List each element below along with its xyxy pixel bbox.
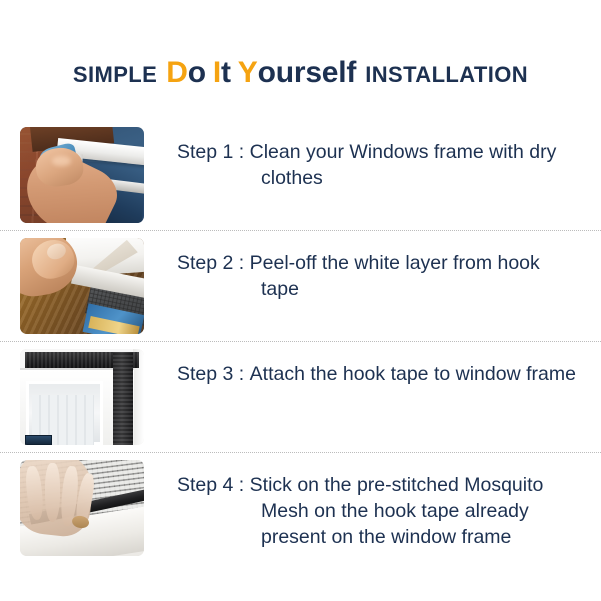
step-description: Step 2 : Peel-off the white layer from h…: [177, 238, 601, 303]
step-description: Step 4 : Stick on the pre-stitched Mosqu…: [177, 460, 601, 551]
title-brand-t: t: [221, 58, 231, 88]
title-prefix: SIMPLE: [73, 64, 157, 86]
title-brand-i: I: [213, 58, 221, 88]
step-label: Step 4 :: [177, 474, 250, 496]
step-label: Step 3 :: [177, 363, 250, 385]
title-brand-y: Y: [238, 58, 258, 88]
step-row: Step 4 : Stick on the pre-stitched Mosqu…: [0, 453, 601, 563]
title-line: SIMPLE D o I t Y ourself INSTALLATION: [73, 58, 528, 88]
step-label: Step 2 :: [177, 252, 250, 274]
step-description: Step 3 : Attach the hook tape to window …: [177, 349, 601, 388]
step-description: Step 1 : Clean your Windows frame with d…: [177, 127, 601, 192]
step-body: Clean your Windows frame with dry clothe…: [250, 141, 557, 189]
step-body: Peel-off the white layer from hook tape: [250, 252, 540, 300]
diy-installation-infographic: SIMPLE D o I t Y ourself INSTALLATION: [0, 0, 601, 601]
step-body: Stick on the pre-stitched Mosquito Mesh …: [250, 474, 544, 548]
steps-list: Step 1 : Clean your Windows frame with d…: [0, 120, 601, 563]
step-row: Step 3 : Attach the hook tape to window …: [0, 342, 601, 452]
step-body: Attach the hook tape to window frame: [250, 363, 576, 385]
step-2-peel-white-layer-photo: [20, 238, 144, 334]
step-label: Step 1 :: [177, 141, 250, 163]
title-brand-o: o: [188, 58, 206, 88]
title-brand-ourself: ourself: [258, 58, 357, 88]
step-row: Step 1 : Clean your Windows frame with d…: [0, 120, 601, 230]
step-1-clean-window-frame-photo: [20, 127, 144, 223]
step-4-stick-mosquito-mesh-photo: [20, 460, 144, 556]
step-3-attach-hook-tape-photo: [20, 349, 144, 445]
step-row: Step 2 : Peel-off the white layer from h…: [0, 231, 601, 341]
title-brand-d: D: [166, 58, 187, 88]
page-title: SIMPLE D o I t Y ourself INSTALLATION: [0, 52, 601, 94]
title-suffix: INSTALLATION: [365, 64, 528, 86]
